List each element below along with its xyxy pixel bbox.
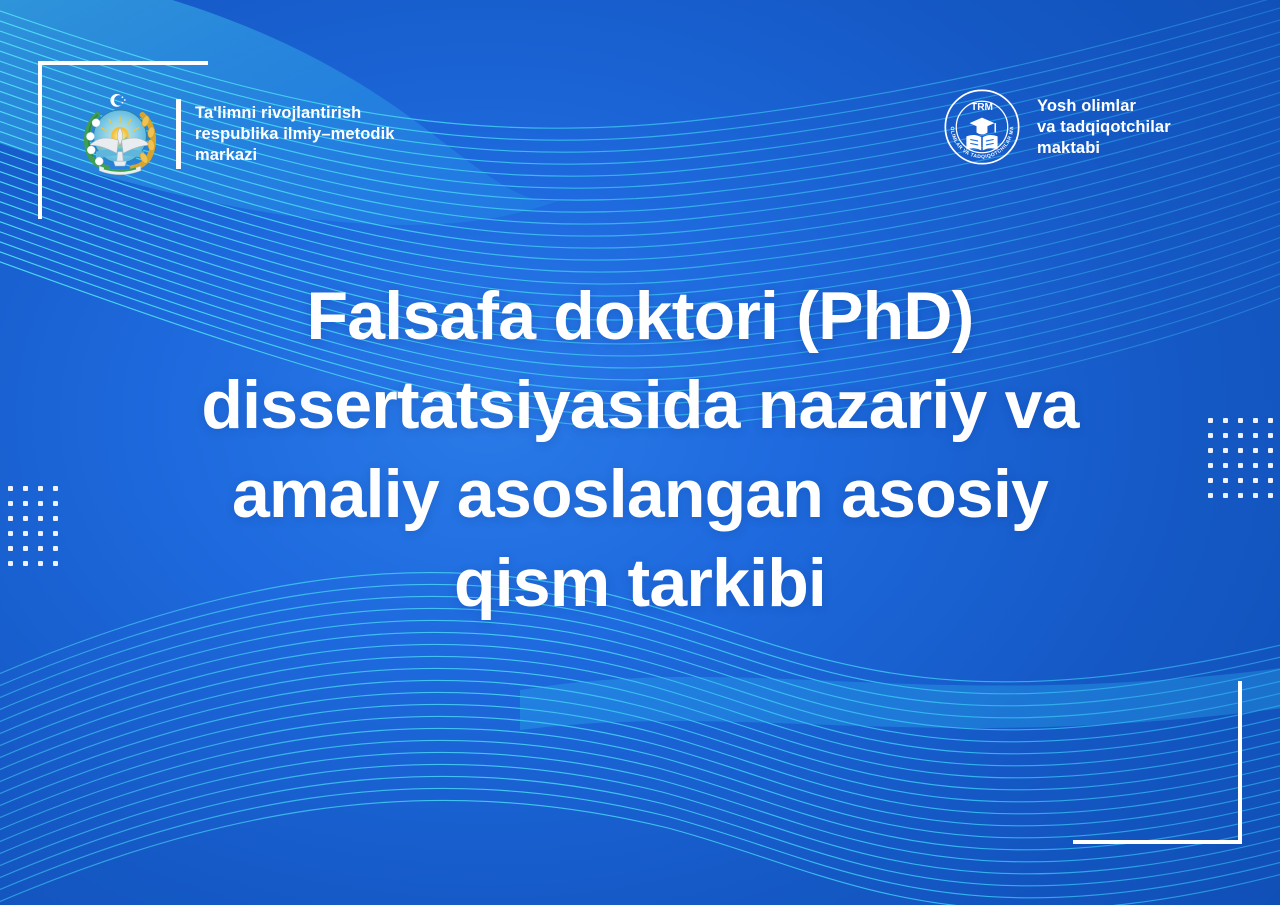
slide-header: Ta'limni rivojlantirish respublika ilmiy…: [0, 0, 1280, 230]
trm-abbreviation: TRM: [971, 102, 993, 113]
bracket-bottom-right-horizontal: [1073, 840, 1242, 844]
presentation-slide: Ta'limni rivojlantirish respublika ilmiy…: [0, 0, 1280, 905]
bracket-bottom-right-vertical: [1238, 681, 1242, 844]
brand-divider-left: [176, 99, 181, 169]
slide-title: Falsafa doktori (PhD) dissertatsiyasida …: [70, 272, 1210, 628]
trm-school-emblem-icon: TRM: [943, 88, 1021, 166]
title-block: Falsafa doktori (PhD) dissertatsiyasida …: [0, 272, 1280, 628]
brand-left: Ta'limni rivojlantirish respublika ilmiy…: [80, 92, 395, 176]
brand-right-label: Yosh olimlar va tadqiqotchilar maktabi: [1037, 96, 1171, 159]
brand-right: TRM: [943, 88, 1171, 166]
brand-left-label: Ta'limni rivojlantirish respublika ilmiy…: [195, 103, 395, 166]
uzbekistan-state-emblem-icon: [80, 92, 160, 176]
